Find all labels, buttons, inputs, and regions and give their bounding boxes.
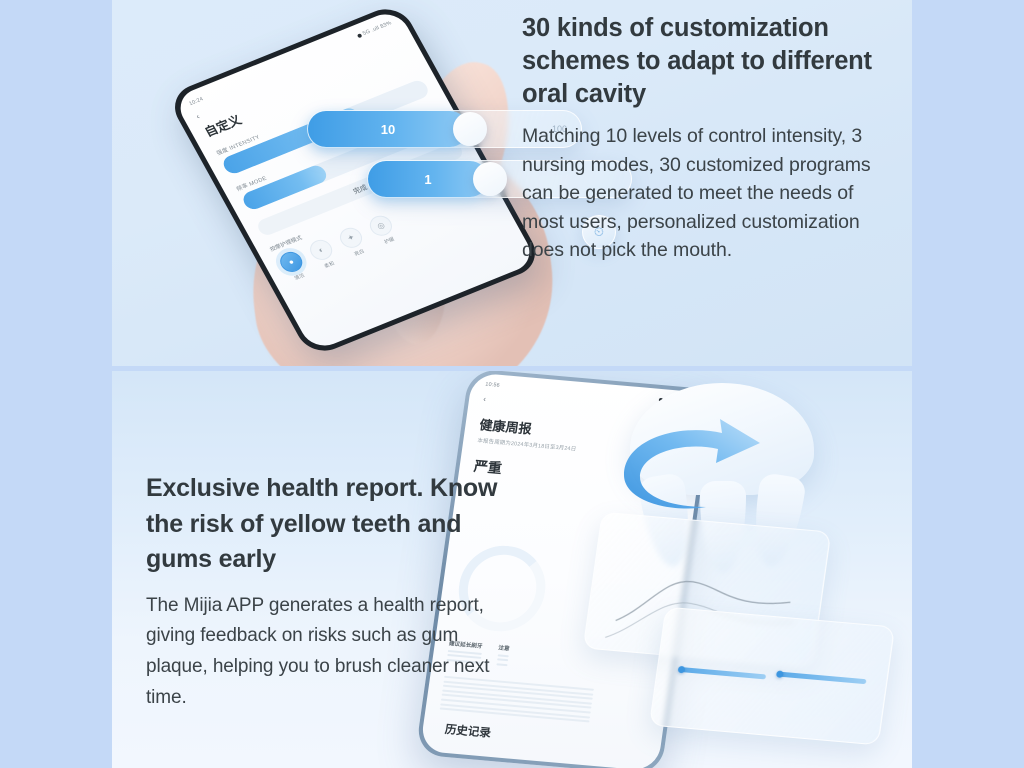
floating-mode-value: 1 [368,161,488,197]
mode-option[interactable]: ◐ 柔和 [306,237,341,272]
mode-option[interactable]: ✦ 亮白 [336,225,371,260]
mode-option[interactable]: ◎ 护龈 [366,213,401,248]
page-title: 30 kinds of customization schemes to ada… [522,12,892,111]
history-records-label: 历史记录 [444,721,492,741]
health-report-body-text: The Mijia APP generates a health report,… [146,591,516,714]
slider-knob[interactable] [453,112,487,146]
section-customization: 10:24 5G .ull 83% ‹ 自定义 强度 INTENSITY [112,0,912,366]
page-title: Exclusive health report. Know the risk o… [146,471,516,578]
customization-body-text: Matching 10 levels of control intensity,… [522,122,892,264]
circular-arrow-icon [610,417,806,513]
mode-option[interactable]: ● 清洁 [276,249,311,284]
slider-knob[interactable] [473,162,507,196]
camera-dot-icon [357,33,363,38]
health-report-copy: Exclusive health report. Know the risk o… [146,471,516,714]
stat-slider-track [778,672,866,685]
stat-slider-track [680,667,766,679]
floating-intensity-value: 10 [308,111,468,147]
customization-copy: 30 kinds of customization schemes to ada… [522,12,892,264]
status-time: 10:24 [188,96,204,107]
section-health-report: 10:56 5G .ull 76% ‹ 健康周报 本报告周期为2024年3月18… [112,371,912,768]
status-time: 10:56 [485,382,500,389]
product-feature-page: 10:24 5G .ull 83% ‹ 自定义 强度 INTENSITY [0,0,1024,768]
slider-stats-card [649,607,895,746]
